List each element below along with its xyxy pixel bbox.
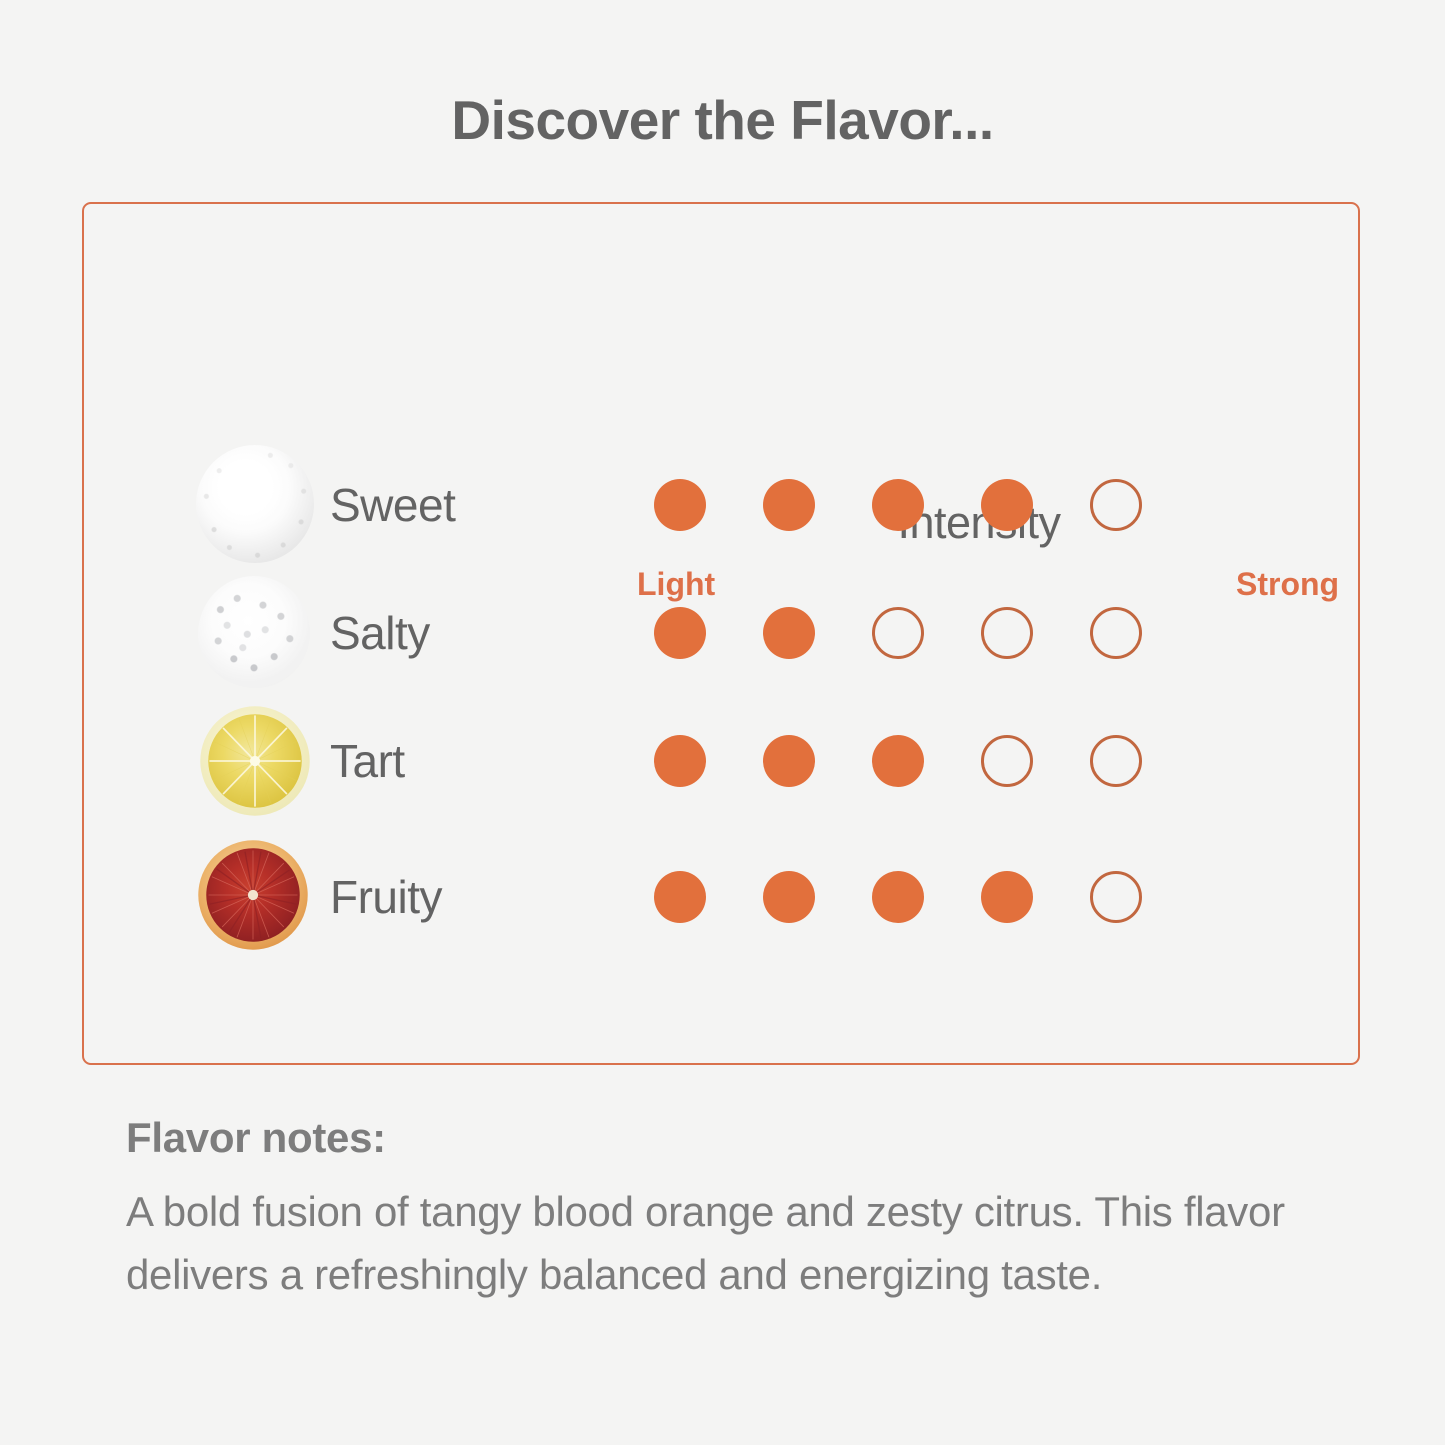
intensity-dot-filled[interactable] (981, 479, 1033, 531)
intensity-dot-empty[interactable] (1090, 479, 1142, 531)
intensity-dot-filled[interactable] (981, 871, 1033, 923)
intensity-dot-filled[interactable] (872, 871, 924, 923)
page-title: Discover the Flavor... (0, 88, 1445, 152)
blood-orange-slice-icon (190, 836, 312, 958)
flavor-row-label: Tart (330, 734, 405, 788)
intensity-dot-filled[interactable] (654, 479, 706, 531)
intensity-dots-fruity (654, 834, 1142, 960)
flavor-row-label: Fruity (330, 870, 442, 924)
flavor-notes-heading: Flavor notes: (126, 1114, 386, 1162)
intensity-dot-filled[interactable] (763, 607, 815, 659)
salt-pile-icon (190, 572, 312, 694)
intensity-dot-filled[interactable] (872, 479, 924, 531)
intensity-dot-empty[interactable] (1090, 871, 1142, 923)
flavor-row-fruity: Fruity (190, 834, 1190, 960)
flavor-row-tart: Tart (190, 698, 1190, 824)
intensity-dots-salty (654, 570, 1142, 696)
intensity-dots-sweet (654, 442, 1142, 568)
intensity-dot-filled[interactable] (654, 735, 706, 787)
sugar-pile-icon (190, 444, 312, 566)
intensity-dots-tart (654, 698, 1142, 824)
scale-label-strong: Strong (1236, 566, 1339, 603)
flavor-row-label: Sweet (330, 478, 455, 532)
intensity-dot-filled[interactable] (763, 735, 815, 787)
intensity-dot-filled[interactable] (763, 871, 815, 923)
flavor-row-sweet: Sweet (190, 442, 1190, 568)
flavor-notes-body: A bold fusion of tangy blood orange and … (126, 1180, 1356, 1306)
intensity-dot-empty[interactable] (872, 607, 924, 659)
flavor-row-salty: Salty (190, 570, 1190, 696)
intensity-dot-empty[interactable] (981, 607, 1033, 659)
intensity-dot-filled[interactable] (654, 607, 706, 659)
intensity-dot-filled[interactable] (872, 735, 924, 787)
lemon-slice-icon (190, 700, 312, 822)
intensity-dot-filled[interactable] (763, 479, 815, 531)
intensity-dot-filled[interactable] (654, 871, 706, 923)
intensity-dot-empty[interactable] (1090, 735, 1142, 787)
intensity-dot-empty[interactable] (981, 735, 1033, 787)
flavor-profile-card: Discover the Flavor... Intensity Light S… (0, 0, 1445, 1445)
intensity-dot-empty[interactable] (1090, 607, 1142, 659)
flavor-row-label: Salty (330, 606, 430, 660)
